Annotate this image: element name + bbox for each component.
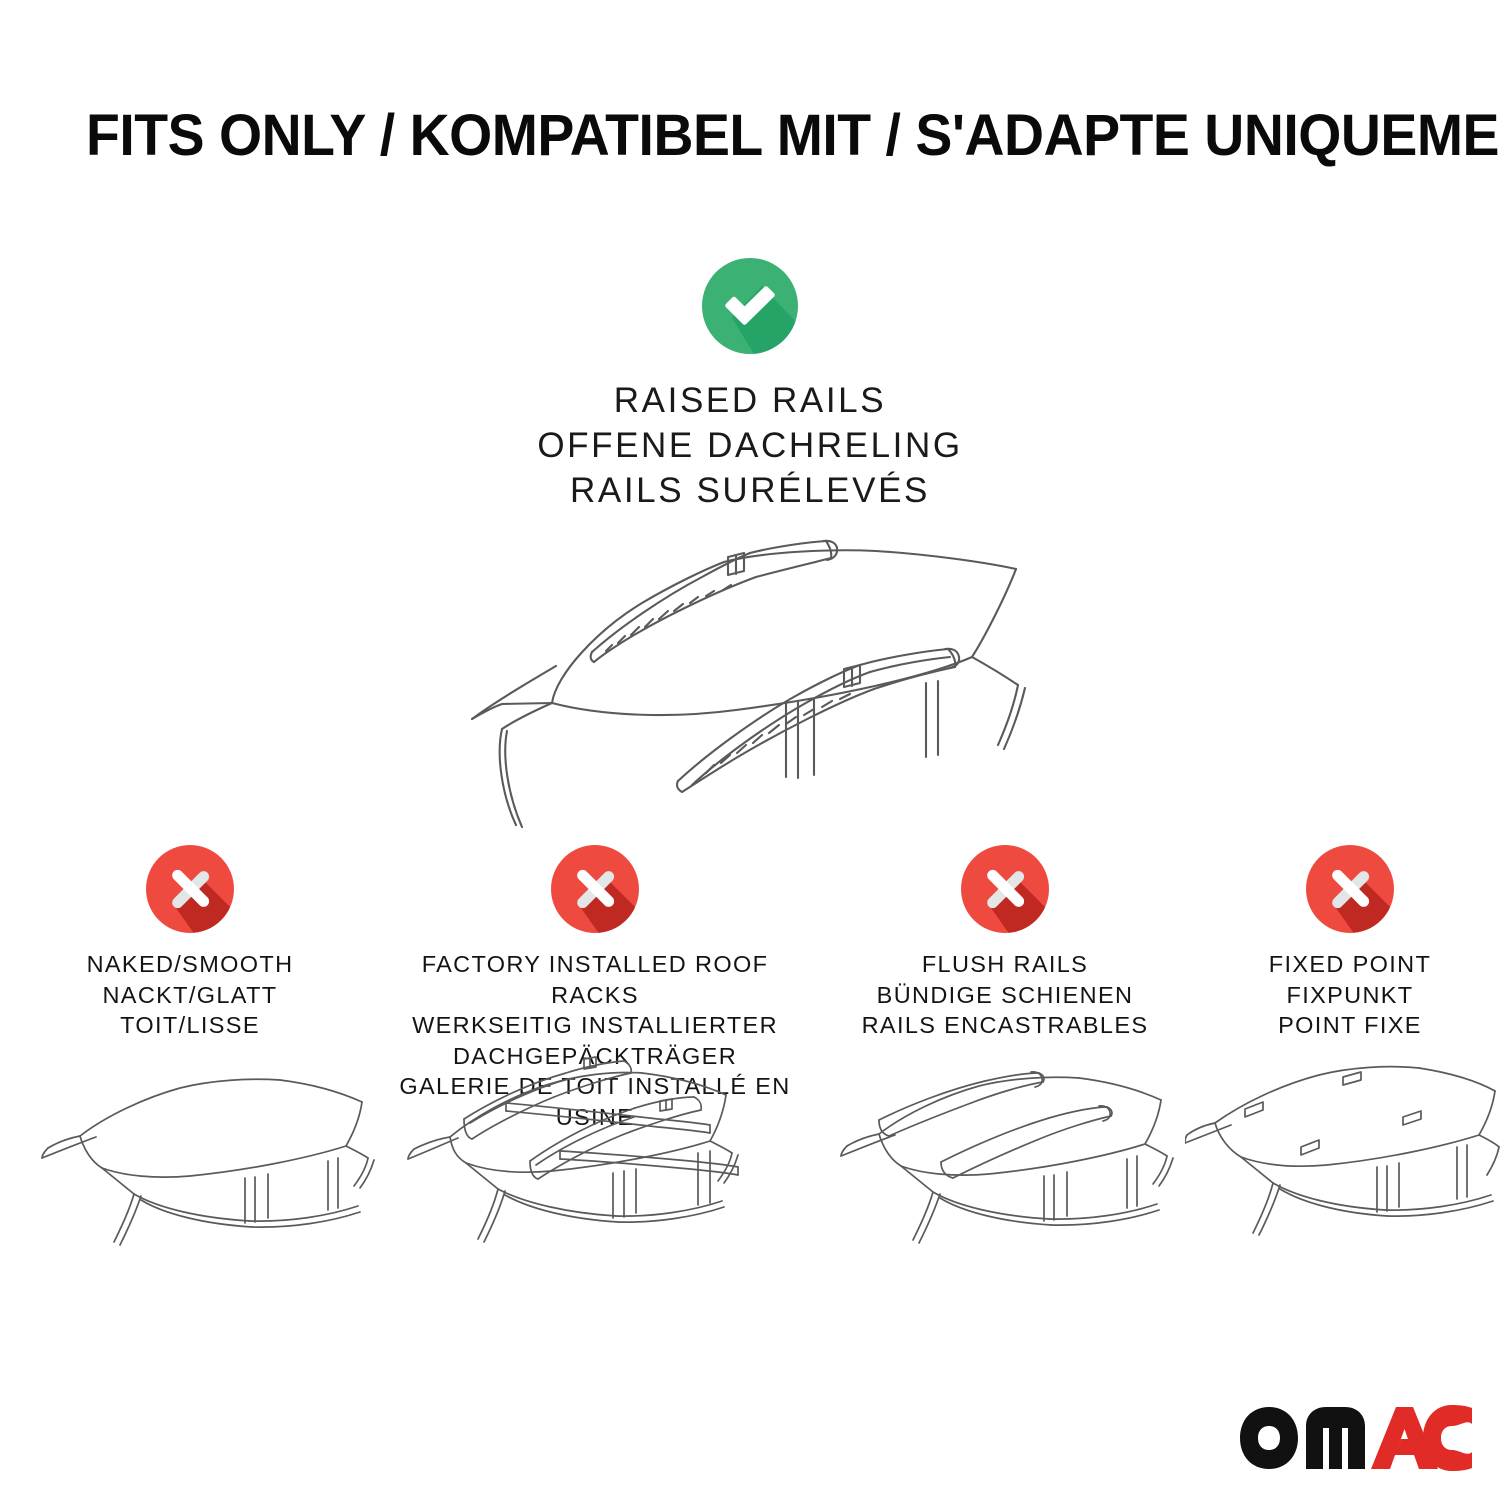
x-circle-icon bbox=[146, 845, 234, 933]
x-circle-icon bbox=[551, 845, 639, 933]
car-roof-naked-smooth-illustration bbox=[40, 1058, 390, 1293]
check-circle-icon bbox=[702, 258, 798, 354]
page-title: FITS ONLY / KOMPATIBEL MIT / S'ADAPTE UN… bbox=[86, 107, 1366, 165]
compatible-section: RAISED RAILS OFFENE DACHRELING RAILS SUR… bbox=[0, 258, 1500, 513]
option-fixed-point: FIXED POINT FIXPUNKT POINT FIXE bbox=[1200, 845, 1500, 1041]
omac-logo bbox=[1238, 1405, 1474, 1473]
option-naked-smooth: NAKED/SMOOTH NACKT/GLATT TOIT/LISSE bbox=[0, 845, 380, 1041]
option-label: FIXED POINT FIXPUNKT POINT FIXE bbox=[1269, 949, 1431, 1041]
car-roof-flush-rails-illustration bbox=[835, 1058, 1185, 1293]
option-label: NAKED/SMOOTH NACKT/GLATT TOIT/LISSE bbox=[87, 949, 294, 1041]
option-flush-rails: FLUSH RAILS BÜNDIGE SCHIENEN RAILS ENCAS… bbox=[810, 845, 1200, 1041]
x-circle-icon bbox=[961, 845, 1049, 933]
car-roof-fixed-point-illustration bbox=[1185, 1055, 1500, 1293]
car-roof-factory-racks-illustration bbox=[398, 1055, 758, 1293]
x-circle-icon bbox=[1306, 845, 1394, 933]
compatible-label: RAISED RAILS OFFENE DACHRELING RAILS SUR… bbox=[537, 378, 962, 513]
option-label: FLUSH RAILS BÜNDIGE SCHIENEN RAILS ENCAS… bbox=[862, 949, 1149, 1041]
car-roof-raised-rails-illustration bbox=[406, 505, 1106, 835]
